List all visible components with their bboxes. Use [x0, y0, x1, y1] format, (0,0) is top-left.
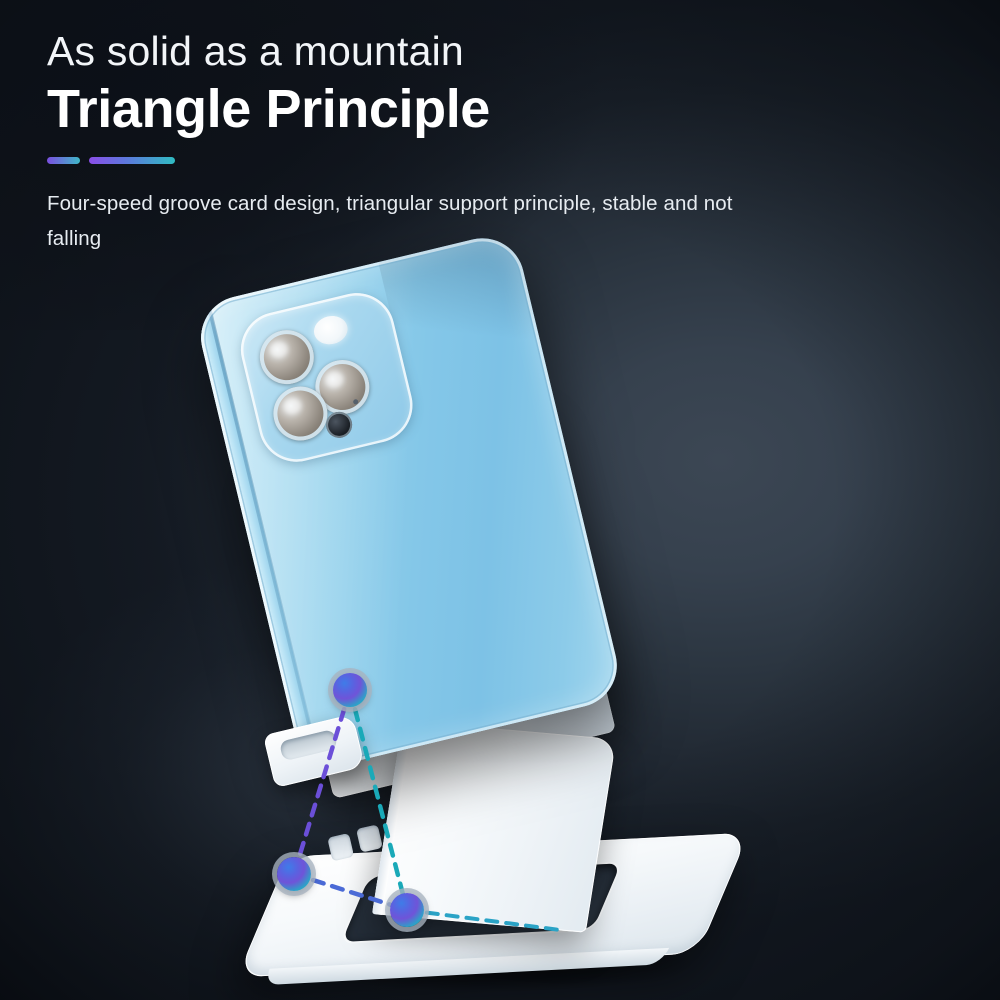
triangle-node-base-left — [277, 857, 311, 891]
eyebrow-text: As solid as a mountain — [47, 26, 827, 76]
smartphone — [193, 230, 626, 774]
accent-divider — [47, 157, 827, 164]
accent-bar-short — [47, 157, 80, 164]
page-title: Triangle Principle — [47, 77, 827, 141]
cradle-lip-groove — [279, 729, 338, 762]
vent-slot-2 — [356, 824, 383, 852]
triangle-node-base-right — [390, 893, 424, 927]
marketing-banner: As solid as a mountain Triangle Principl… — [0, 0, 1000, 1000]
triangle-node-apex — [333, 673, 367, 707]
phone-frame-rim — [193, 230, 626, 774]
headline-block: As solid as a mountain Triangle Principl… — [47, 26, 827, 256]
description-text: Four-speed groove card design, triangula… — [47, 186, 777, 256]
accent-bar-long — [89, 157, 175, 164]
vent-slot-1 — [327, 833, 354, 861]
